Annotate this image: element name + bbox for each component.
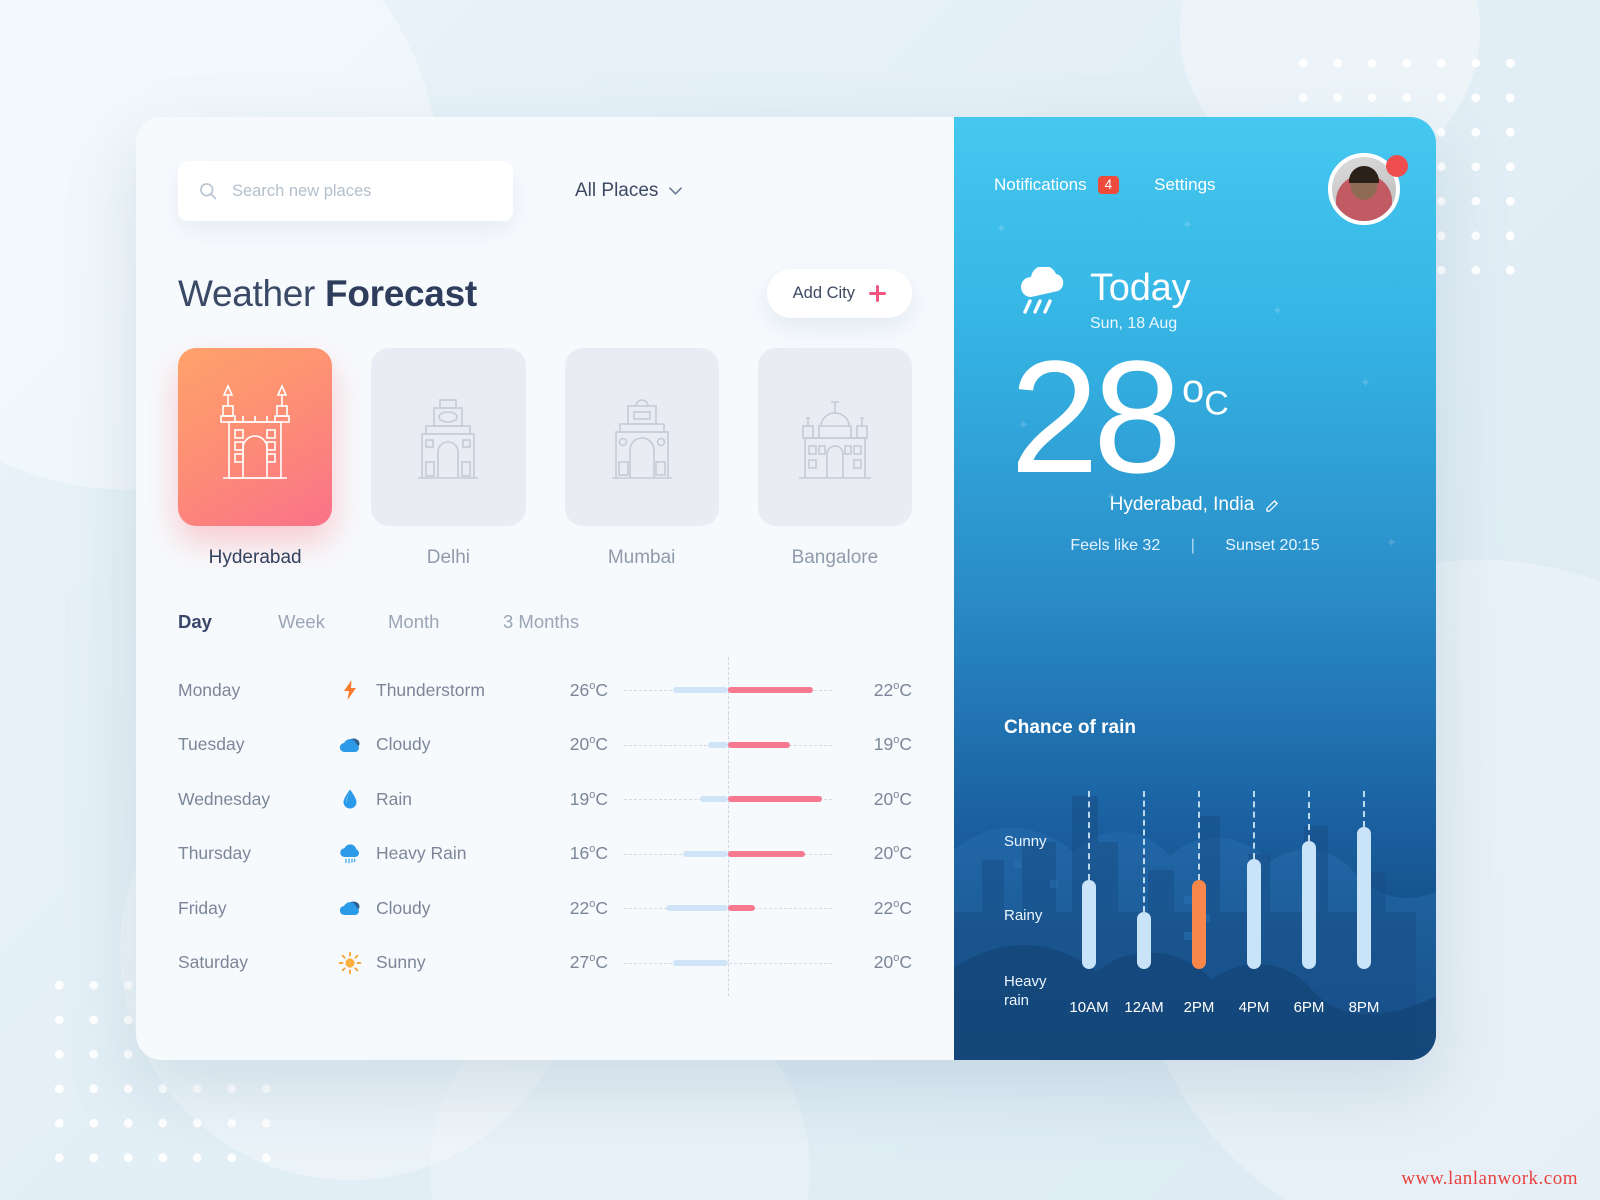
forecast-temp-bar bbox=[624, 827, 832, 882]
forecast-high-temp: 20oC bbox=[544, 734, 608, 755]
chart-bar-dashed-line bbox=[1253, 791, 1255, 859]
forecast-high-temp: 26oC bbox=[544, 680, 608, 701]
chart-bar bbox=[1192, 880, 1206, 969]
forecast-temp-bar bbox=[624, 772, 832, 827]
chart-ylabel-sunny: Sunny bbox=[1004, 833, 1047, 852]
forecast-high-temp: 27oC bbox=[544, 952, 608, 973]
notifications-label: Notifications bbox=[994, 175, 1087, 195]
india-gate-icon bbox=[402, 382, 494, 492]
forecast-high-temp: 19oC bbox=[544, 789, 608, 810]
chart-bar-dashed-line bbox=[1363, 791, 1365, 827]
forecast-condition: Cloudy bbox=[376, 898, 544, 919]
chart-bar-dashed-line bbox=[1308, 791, 1310, 841]
table-row[interactable]: TuesdayCloudy20oC19oC bbox=[178, 718, 912, 773]
forecast-day: Wednesday bbox=[178, 789, 338, 810]
bar-cold-segment bbox=[666, 905, 728, 911]
droplet-icon bbox=[338, 787, 362, 811]
chart-xlabel: 6PM bbox=[1294, 999, 1325, 1016]
chart-bar bbox=[1137, 912, 1151, 969]
forecast-temp-bar bbox=[624, 718, 832, 773]
chart-bar bbox=[1302, 841, 1316, 969]
page-title: Weather Forecast bbox=[178, 273, 477, 315]
search-icon bbox=[198, 181, 218, 201]
edit-icon[interactable] bbox=[1265, 498, 1280, 513]
places-filter-dropdown[interactable]: All Places bbox=[575, 180, 682, 202]
forecast-condition-icon bbox=[338, 733, 376, 757]
forecast-day: Monday bbox=[178, 680, 338, 701]
charminar-icon bbox=[209, 382, 301, 492]
forecast-temp-bar bbox=[624, 881, 832, 936]
bar-cold-segment bbox=[700, 796, 728, 802]
lightning-icon bbox=[338, 678, 362, 702]
chart-title: Chance of rain bbox=[1004, 717, 1402, 739]
city-tile bbox=[178, 348, 332, 526]
chart-bar-dashed-line bbox=[1143, 791, 1145, 912]
chart-ylabel-heavy-rain: Heavy rain bbox=[1004, 973, 1064, 1011]
chart-xlabel: 2PM bbox=[1184, 999, 1215, 1016]
unit-letter: C bbox=[1204, 384, 1229, 422]
watermark: www.lanlanwork.com bbox=[1401, 1168, 1578, 1190]
today-text: Today Sun, 18 Aug bbox=[1090, 267, 1190, 333]
chart-bar-column[interactable]: 2PM bbox=[1192, 761, 1206, 993]
cloud-icon bbox=[338, 896, 362, 920]
places-filter-label: All Places bbox=[575, 180, 658, 202]
right-panel: ✦ ✦ ✦ ✦ ✦ ✦ ✦ ✦ Notifications 4 Settings bbox=[954, 117, 1436, 1060]
city-name: Mumbai bbox=[565, 547, 719, 569]
avatar-hair bbox=[1349, 166, 1379, 183]
city-name: Delhi bbox=[371, 547, 525, 569]
table-row[interactable]: ThursdayHeavy Rain16oC20oC bbox=[178, 827, 912, 882]
chart-bar-column[interactable]: 12AM bbox=[1137, 761, 1151, 993]
table-row[interactable]: MondayThunderstorm26oC22oC bbox=[178, 663, 912, 718]
vidhana-soudha-icon bbox=[789, 382, 881, 492]
notifications-link[interactable]: Notifications 4 bbox=[994, 175, 1119, 195]
add-city-button[interactable]: Add City bbox=[767, 269, 912, 318]
chart-xlabel: 12AM bbox=[1124, 999, 1163, 1016]
chart-bar bbox=[1357, 827, 1371, 969]
chart-bar-column[interactable]: 10AM bbox=[1082, 761, 1096, 993]
city-card-mumbai[interactable]: Mumbai bbox=[565, 348, 719, 569]
city-name: Bangalore bbox=[758, 547, 912, 569]
forecast-condition-icon bbox=[338, 787, 376, 811]
settings-link[interactable]: Settings bbox=[1154, 175, 1215, 195]
forecast-day: Tuesday bbox=[178, 734, 338, 755]
left-panel: All Places Weather Forecast Add City bbox=[136, 117, 954, 1060]
city-card-bangalore[interactable]: Bangalore bbox=[758, 348, 912, 569]
feels-like: Feels like 32 bbox=[1070, 537, 1160, 554]
chevron-down-icon bbox=[669, 187, 682, 195]
forecast-temp-bar bbox=[624, 936, 832, 991]
forecast-condition: Rain bbox=[376, 789, 544, 810]
degree-symbol: o bbox=[1182, 367, 1204, 411]
forecast-day: Saturday bbox=[178, 952, 338, 973]
forecast-condition: Sunny bbox=[376, 952, 544, 973]
chart-bar-dashed-line bbox=[1198, 791, 1200, 880]
table-row[interactable]: WednesdayRain19oC20oC bbox=[178, 772, 912, 827]
city-tile bbox=[565, 348, 719, 526]
add-city-label: Add City bbox=[793, 284, 855, 303]
today-label: Today bbox=[1090, 267, 1190, 310]
forecast-low-temp: 20oC bbox=[848, 952, 912, 973]
avatar-status-dot bbox=[1386, 155, 1408, 177]
location-row: Hyderabad, India bbox=[954, 494, 1436, 516]
heavy-rain-icon bbox=[338, 842, 362, 866]
forecast-low-temp: 22oC bbox=[848, 898, 912, 919]
forecast-low-temp: 20oC bbox=[848, 843, 912, 864]
table-row[interactable]: SaturdaySunny27oC20oC bbox=[178, 936, 912, 991]
location-name: Hyderabad, India bbox=[1110, 494, 1255, 516]
bar-cold-segment bbox=[708, 742, 728, 748]
forecast-high-temp: 22oC bbox=[544, 898, 608, 919]
cloud-icon bbox=[338, 733, 362, 757]
chart-bar-dashed-line bbox=[1088, 791, 1090, 880]
tab-month[interactable]: Month bbox=[388, 611, 503, 633]
chance-of-rain-chart: Chance of rain Sunny Rainy Heavy rain 10… bbox=[1004, 717, 1402, 993]
forecast-high-temp: 16oC bbox=[544, 843, 608, 864]
page-title-bold: Forecast bbox=[325, 273, 477, 314]
bar-hot-segment bbox=[728, 742, 790, 748]
chart-xlabel: 4PM bbox=[1239, 999, 1270, 1016]
forecast-table: MondayThunderstorm26oC22oCTuesdayCloudy2… bbox=[178, 663, 912, 990]
forecast-day: Friday bbox=[178, 898, 338, 919]
search-box[interactable] bbox=[178, 161, 513, 221]
chart-xlabel: 8PM bbox=[1349, 999, 1380, 1016]
search-input[interactable] bbox=[232, 182, 493, 201]
bar-cold-segment bbox=[683, 851, 728, 857]
title-row: Weather Forecast Add City bbox=[178, 269, 912, 318]
rain-cloud-icon bbox=[1016, 267, 1072, 317]
city-list: Hyderabad Delhi bbox=[178, 348, 912, 569]
forecast-condition-icon bbox=[338, 896, 376, 920]
chart-ylabel-rainy: Rainy bbox=[1004, 907, 1042, 926]
panel-top-bar: Notifications 4 Settings bbox=[954, 117, 1436, 195]
sunset: Sunset 20:15 bbox=[1225, 537, 1319, 554]
city-tile bbox=[371, 348, 525, 526]
range-tabs: Day Week Month 3 Months bbox=[178, 611, 912, 633]
gateway-of-india-icon bbox=[596, 382, 688, 492]
forecast-condition: Cloudy bbox=[376, 734, 544, 755]
forecast-low-temp: 19oC bbox=[848, 734, 912, 755]
chart-bars: 10AM12AM2PM4PM6PM8PM bbox=[1082, 761, 1402, 993]
forecast-condition: Thunderstorm bbox=[376, 680, 544, 701]
bar-hot-segment bbox=[728, 851, 805, 857]
chart-bar bbox=[1082, 880, 1096, 969]
forecast-condition-icon bbox=[338, 842, 376, 866]
bar-axis bbox=[728, 930, 729, 997]
tab-3-months[interactable]: 3 Months bbox=[503, 611, 579, 633]
temperature-unit: oC bbox=[1182, 367, 1229, 423]
forecast-low-temp: 22oC bbox=[848, 680, 912, 701]
page-title-light: Weather bbox=[178, 273, 325, 314]
chart-bar-column[interactable]: 4PM bbox=[1247, 761, 1261, 993]
city-name: Hyderabad bbox=[178, 547, 332, 569]
bar-cold-segment bbox=[673, 687, 728, 693]
city-tile bbox=[758, 348, 912, 526]
bar-hot-segment bbox=[728, 796, 822, 802]
chart-area: Sunny Rainy Heavy rain 10AM12AM2PM4PM6PM… bbox=[1004, 761, 1402, 993]
tab-day[interactable]: Day bbox=[178, 611, 278, 633]
city-card-delhi[interactable]: Delhi bbox=[371, 348, 525, 569]
sun-icon bbox=[338, 951, 362, 975]
chart-bar-column[interactable]: 6PM bbox=[1302, 761, 1316, 993]
top-bar: All Places bbox=[178, 117, 912, 221]
chart-xlabel: 10AM bbox=[1069, 999, 1108, 1016]
city-card-hyderabad[interactable]: Hyderabad bbox=[178, 348, 332, 569]
weather-app-card: All Places Weather Forecast Add City bbox=[136, 117, 1436, 1060]
forecast-condition: Heavy Rain bbox=[376, 843, 544, 864]
tab-week[interactable]: Week bbox=[278, 611, 388, 633]
forecast-temp-bar bbox=[624, 663, 832, 718]
chart-bar bbox=[1247, 859, 1261, 969]
bar-hot-segment bbox=[728, 687, 813, 693]
forecast-low-temp: 20oC bbox=[848, 789, 912, 810]
bar-hot-segment bbox=[728, 905, 755, 911]
forecast-condition-icon bbox=[338, 678, 376, 702]
today-header: Today Sun, 18 Aug bbox=[954, 267, 1436, 333]
meta-separator: | bbox=[1191, 537, 1195, 554]
current-temperature-block: 28 oC bbox=[954, 335, 1436, 498]
notifications-badge: 4 bbox=[1098, 176, 1120, 195]
chart-bar-column[interactable]: 8PM bbox=[1357, 761, 1371, 993]
forecast-condition-icon bbox=[338, 951, 376, 975]
table-row[interactable]: FridayCloudy22oC22oC bbox=[178, 881, 912, 936]
today-meta: Feels like 32 | Sunset 20:15 bbox=[954, 537, 1436, 555]
forecast-day: Thursday bbox=[178, 843, 338, 864]
current-temperature: 28 bbox=[1010, 335, 1176, 498]
today-weather-icon-wrap bbox=[1016, 267, 1072, 322]
bar-cold-segment bbox=[673, 960, 728, 966]
plus-icon bbox=[869, 285, 886, 302]
